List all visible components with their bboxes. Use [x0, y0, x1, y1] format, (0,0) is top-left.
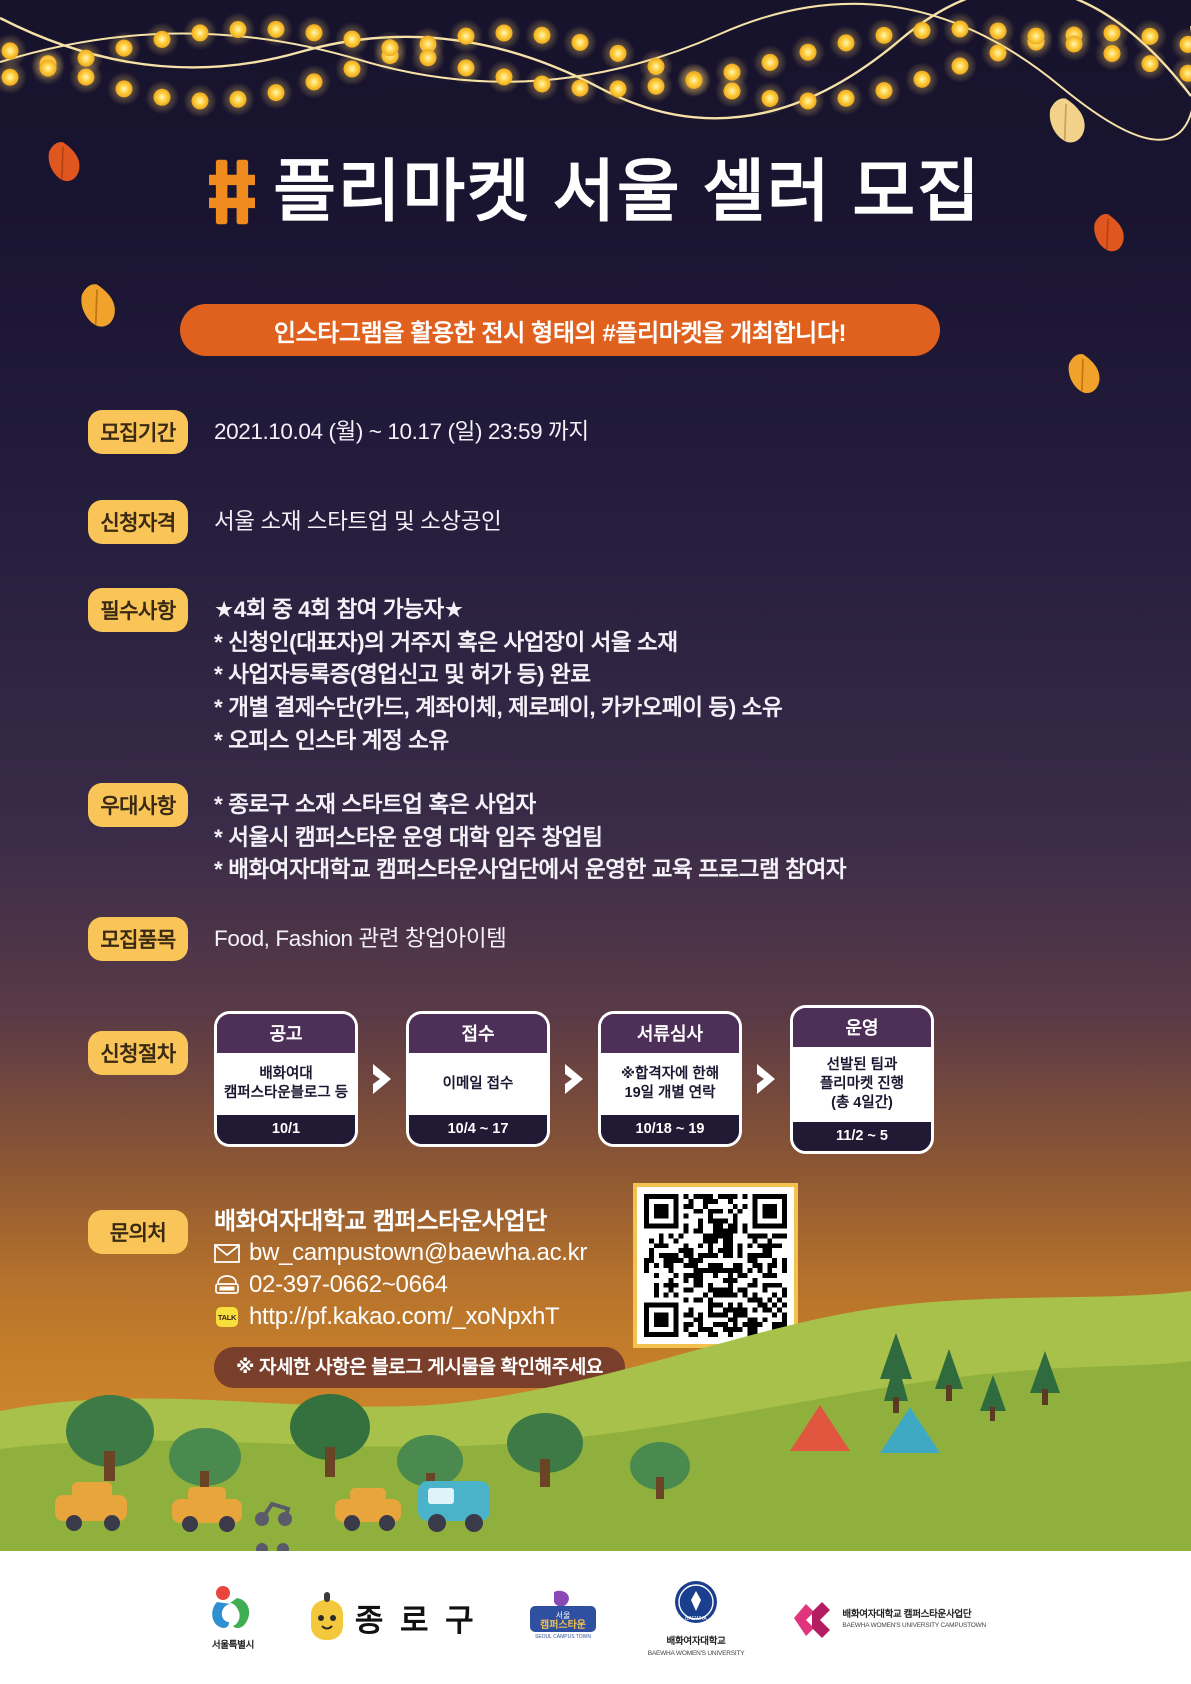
baewha-univ-logo: BAEWHA 배화여자대학교 BAEWHA WOMEN'S UNIVERSITY — [648, 1578, 745, 1657]
label-procedure: 신청절차 — [88, 1031, 188, 1075]
info-row-eligibility: 신청자격 서울 소재 스타트업 및 소상공인 — [0, 500, 1191, 544]
contact-org: 배화여자대학교 캠퍼스타운사업단 — [214, 1206, 547, 1238]
svg-text:BAEWHA: BAEWHA — [685, 1616, 707, 1622]
requirement-line: * 오피스 인스타 계정 소유 — [214, 725, 782, 758]
label-requirements: 필수사항 — [88, 588, 188, 632]
poster-title-row: 플리마켓 서울 셀러 모집 — [0, 158, 1191, 226]
seoul-city-logo: 서울특별시 — [205, 1584, 261, 1651]
process-step-date: 10/18 ~ 19 — [601, 1115, 739, 1144]
preference-line: * 배화여자대학교 캠퍼스타운사업단에서 운영한 교육 프로그램 참여자 — [214, 854, 846, 887]
baewha-univ-caption: 배화여자대학교 — [667, 1633, 726, 1647]
label-preference: 우대사항 — [88, 783, 188, 827]
baewha-univ-caption-en: BAEWHA WOMEN'S UNIVERSITY — [648, 1650, 745, 1657]
chevron-right-icon — [550, 1062, 598, 1096]
leaf-icon — [1040, 96, 1092, 148]
process-step-title: 접수 — [409, 1014, 547, 1053]
string-lights — [0, 0, 1191, 170]
process-step: 접수이메일 접수10/4 ~ 17 — [406, 1011, 550, 1147]
svg-text:SEOUL CAMPUS TOWN: SEOUL CAMPUS TOWN — [535, 1634, 591, 1640]
landscape-illustration — [0, 1261, 1191, 1551]
value-preference: * 종로구 소재 스타트업 혹은 사업자 * 서울시 캠퍼스타운 운영 대학 입… — [214, 783, 846, 887]
baewha-campustown-caption: 배화여자대학교 캠퍼스타운사업단 — [842, 1606, 971, 1620]
process-step-body: 배화여대캠퍼스타운블로그 등 — [217, 1053, 355, 1115]
leaf-icon — [1060, 352, 1106, 398]
info-row-requirements: 필수사항 ★4회 중 4회 참여 가능자★ * 신청인(대표자)의 거주지 혹은… — [0, 588, 1191, 757]
process-step-body: 선발된 팀과플리마켓 진행(총 4일간) — [793, 1047, 931, 1122]
label-eligibility: 신청자격 — [88, 500, 188, 544]
process-step-body: 이메일 접수 — [409, 1053, 547, 1115]
value-period: 2021.10.04 (월) ~ 10.17 (일) 23:59 까지 — [214, 410, 589, 449]
value-eligibility: 서울 소재 스타트업 및 소상공인 — [214, 500, 501, 539]
baewha-campustown-caption-en: BAEWHA WOMEN'S UNIVERSITY CAMPUSTOWN — [842, 1622, 986, 1629]
value-items: Food, Fashion 관련 창업아이템 — [214, 917, 506, 956]
process-step-title: 운영 — [793, 1008, 931, 1047]
info-row-items: 모집품목 Food, Fashion 관련 창업아이템 — [0, 917, 1191, 961]
process-step: 서류심사※합격자에 한해19일 개별 연락10/18 ~ 19 — [598, 1011, 742, 1147]
requirement-line: * 신청인(대표자)의 거주지 혹은 사업장이 서울 소재 — [214, 627, 782, 660]
seoul-symbol-icon — [205, 1584, 261, 1634]
info-row-period: 모집기간 2021.10.04 (월) ~ 10.17 (일) 23:59 까지 — [0, 410, 1191, 454]
label-contact: 문의처 — [88, 1210, 188, 1254]
seoul-city-caption: 서울특별시 — [212, 1637, 254, 1651]
chevron-right-icon — [742, 1062, 790, 1096]
process-step-date: 10/4 ~ 17 — [409, 1115, 547, 1144]
baewha-campustown-mark-icon — [790, 1598, 834, 1638]
jongno-mascot-icon — [307, 1592, 347, 1644]
baewha-emblem-icon: BAEWHA — [670, 1578, 722, 1630]
poster-root: 플리마켓 서울 셀러 모집 인스타그램을 활용한 전시 형태의 #플리마켓을 개… — [0, 0, 1191, 1684]
baewha-campustown-logo: 배화여자대학교 캠퍼스타운사업단 BAEWHA WOMEN'S UNIVERSI… — [790, 1598, 986, 1638]
value-requirements: ★4회 중 4회 참여 가능자★ * 신청인(대표자)의 거주지 혹은 사업장이… — [214, 588, 782, 757]
process-step: 운영선발된 팀과플리마켓 진행(총 4일간)11/2 ~ 5 — [790, 1005, 934, 1154]
contact-org-line: 배화여자대학교 캠퍼스타운사업단 — [214, 1206, 625, 1238]
label-items: 모집품목 — [88, 917, 188, 961]
info-row-procedure: 신청절차 공고배화여대캠퍼스타운블로그 등10/1접수이메일 접수10/4 ~ … — [0, 1003, 1191, 1154]
hash-icon — [209, 158, 255, 226]
procedure-flow: 공고배화여대캠퍼스타운블로그 등10/1접수이메일 접수10/4 ~ 17서류심… — [214, 1003, 934, 1154]
process-step-title: 서류심사 — [601, 1014, 739, 1053]
process-step-body: ※합격자에 한해19일 개별 연락 — [601, 1053, 739, 1115]
subtitle-text: 인스타그램을 활용한 전시 형태의 #플리마켓을 개최합니다! — [274, 313, 846, 348]
requirement-line: * 개별 결제수단(카드, 계좌이체, 제로페이, 카카오페이 등) 소유 — [214, 692, 782, 725]
campustown-logo: 서울 캠퍼스타운 SEOUL CAMPUS TOWN — [524, 1588, 602, 1648]
preference-line: * 종로구 소재 스타트업 혹은 사업자 — [214, 789, 846, 822]
page-title: 플리마켓 서울 셀러 모집 — [273, 158, 981, 226]
jongno-gu-logo: 종 로 구 — [307, 1592, 478, 1644]
info-row-preference: 우대사항 * 종로구 소재 스타트업 혹은 사업자 * 서울시 캠퍼스타운 운영… — [0, 783, 1191, 887]
info-list: 모집기간 2021.10.04 (월) ~ 10.17 (일) 23:59 까지… — [0, 410, 1191, 1388]
process-step: 공고배화여대캠퍼스타운블로그 등10/1 — [214, 1011, 358, 1147]
preference-line: * 서울시 캠퍼스타운 운영 대학 입주 창업팀 — [214, 822, 846, 855]
chevron-right-icon — [358, 1062, 406, 1096]
svg-text:서울: 서울 — [555, 1611, 570, 1620]
process-step-title: 공고 — [217, 1014, 355, 1053]
process-step-date: 10/1 — [217, 1115, 355, 1144]
jongno-gu-text: 종 로 구 — [355, 1595, 478, 1640]
campustown-mark-icon: 서울 캠퍼스타운 SEOUL CAMPUS TOWN — [524, 1588, 602, 1648]
requirement-line: * 사업자등록증(영업신고 및 허가 등) 완료 — [214, 659, 782, 692]
label-period: 모집기간 — [88, 410, 188, 454]
requirement-line: ★4회 중 4회 참여 가능자★ — [214, 594, 782, 627]
footer-logo-bar: 서울특별시 종 로 구 서울 캠퍼스타운 SEOUL CAMPUS TOWN — [0, 1551, 1191, 1684]
subtitle-banner: 인스타그램을 활용한 전시 형태의 #플리마켓을 개최합니다! — [180, 304, 940, 356]
leaf-icon — [72, 282, 122, 332]
svg-text:캠퍼스타운: 캠퍼스타운 — [540, 1618, 586, 1631]
process-step-date: 11/2 ~ 5 — [793, 1122, 931, 1151]
